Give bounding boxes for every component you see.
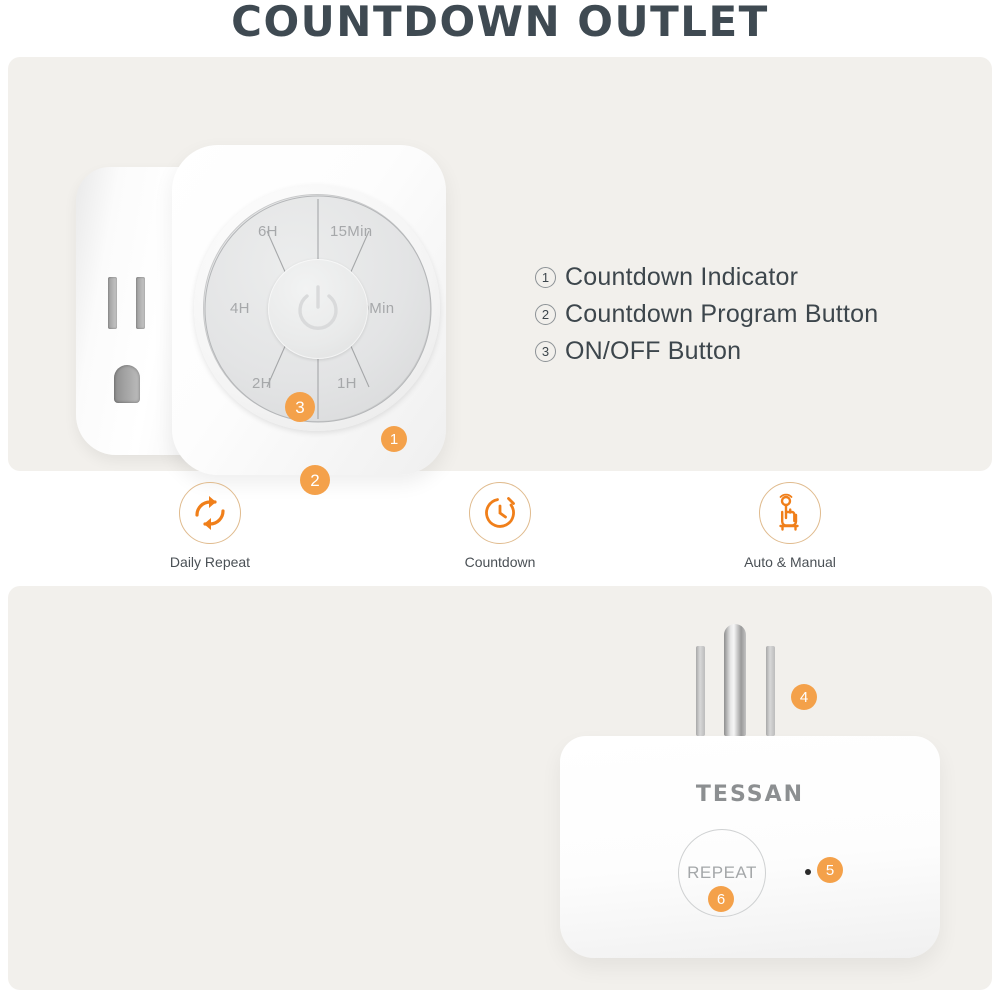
- callout-number-2: 2: [535, 304, 556, 325]
- callout-badge-4: 4: [791, 684, 817, 710]
- callout-item-2: 2 Countdown Program Button: [535, 300, 878, 329]
- brand-logo: TESSAN: [560, 782, 940, 807]
- callout-label-1: Countdown Indicator: [565, 263, 798, 292]
- stopwatch-icon: [480, 493, 520, 533]
- socket-slot-left: [108, 277, 117, 329]
- callout-badge-3: 3: [285, 392, 315, 422]
- socket-ground-hole: [114, 365, 140, 403]
- socket-slot-right: [136, 277, 145, 329]
- repeat-indicator-led-icon: [805, 869, 811, 875]
- feature-countdown: Countdown: [410, 482, 590, 570]
- feature-auto-manual: Auto & Manual: [700, 482, 880, 570]
- dial-label-2h: 2H: [252, 375, 272, 392]
- callout-item-3: 3 ON/OFF Button: [535, 337, 878, 366]
- feature-label-1: Daily Repeat: [120, 554, 300, 570]
- on-off-button[interactable]: [268, 259, 368, 359]
- plug-blade-right: [766, 646, 775, 736]
- device-front-face: 15Min 30Min 1H 2H 4H 6H: [172, 145, 446, 475]
- callout-badge-5: 5: [817, 857, 843, 883]
- product-infographic: COUNTDOWN OUTLET: [0, 0, 1000, 998]
- top-feature-panel: 15Min 30Min 1H 2H 4H 6H: [8, 57, 992, 471]
- callout-label-3: ON/OFF Button: [565, 337, 741, 366]
- feature-icon-strip: Daily Repeat Countdown: [0, 482, 1000, 570]
- callout-number-3: 3: [535, 341, 556, 362]
- callout-badge-1: 1: [381, 426, 407, 452]
- dial-label-6h: 6H: [258, 223, 278, 240]
- power-icon: [294, 283, 342, 335]
- hand-tap-icon: [770, 493, 810, 533]
- feature-label-3: Auto & Manual: [700, 554, 880, 570]
- plug-ground-pin: [724, 624, 746, 736]
- feature-ring-2: [469, 482, 531, 544]
- feature-ring-3: [759, 482, 821, 544]
- callout-item-1: 1 Countdown Indicator: [535, 263, 878, 292]
- dial-label-15min: 15Min: [330, 223, 372, 240]
- dial-label-1h: 1H: [337, 375, 357, 392]
- callout-label-2: Countdown Program Button: [565, 300, 878, 329]
- countdown-outlet-front-device: 15Min 30Min 1H 2H 4H 6H: [76, 145, 446, 475]
- plug-blade-left: [696, 646, 705, 736]
- dial-bezel: 15Min 30Min 1H 2H 4H 6H: [194, 185, 440, 431]
- dial-label-4h: 4H: [230, 300, 250, 317]
- feature-label-2: Countdown: [410, 554, 590, 570]
- callout-number-1: 1: [535, 267, 556, 288]
- top-callout-list: 1 Countdown Indicator 2 Countdown Progra…: [535, 263, 878, 374]
- countdown-dial[interactable]: 15Min 30Min 1H 2H 4H 6H: [203, 194, 431, 422]
- countdown-outlet-back-device: TESSAN REPEAT 4 5 6: [560, 614, 940, 958]
- repeat-button-label: REPEAT: [687, 863, 757, 883]
- feature-daily-repeat: Daily Repeat: [120, 482, 300, 570]
- repeat-arrows-icon: [190, 493, 230, 533]
- page-title: COUNTDOWN OUTLET: [0, 0, 1000, 46]
- feature-ring-1: [179, 482, 241, 544]
- callout-badge-6: 6: [708, 886, 734, 912]
